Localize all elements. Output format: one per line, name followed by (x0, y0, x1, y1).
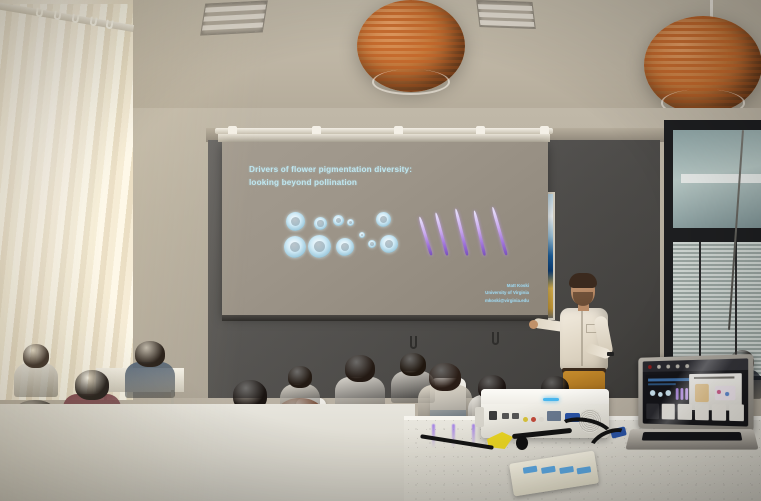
projected-slide: Drivers of flower pigmentation diversity… (222, 142, 548, 316)
laptop-screen[interactable] (643, 358, 748, 426)
presenter-left-hand (529, 320, 538, 329)
flower-image (284, 236, 306, 258)
slide-title-line-1: Drivers of flower pigmentation diversity… (249, 164, 489, 177)
flower-image (336, 238, 354, 256)
flower-image (333, 215, 344, 226)
daylight-glow (0, 0, 133, 400)
spectral-curve (491, 207, 508, 256)
screen-bottom-bar (222, 315, 548, 321)
upper-window-pane (673, 130, 761, 228)
flower-image (376, 212, 391, 227)
credit-email: mkoski@virginia.edu (485, 297, 529, 304)
spectral-curve (434, 212, 448, 255)
pendant-lamp (640, 0, 761, 112)
front-desk-left (0, 404, 415, 501)
wall-hook-icon (492, 332, 499, 345)
audience-head (429, 363, 461, 391)
credit-name: Matt Koski (485, 282, 529, 289)
audience-torso (14, 363, 58, 397)
cable-grommet (516, 436, 528, 450)
window-wall (0, 0, 133, 400)
audience-head (75, 370, 109, 400)
projector-lens (475, 407, 484, 427)
wristwatch-icon (607, 352, 614, 356)
laptop-lid (638, 354, 753, 432)
wall-hook-icon (410, 336, 417, 349)
slide-title-line-2: looking beyond pollination (249, 177, 489, 190)
laptop-keyboard[interactable] (642, 432, 743, 440)
ceiling-light-fixture (200, 0, 268, 35)
slide-credit: Matt Koski University of Virginia mkoski… (485, 282, 529, 304)
audience-member (23, 344, 49, 402)
screen-housing (218, 134, 550, 142)
audience-torso (125, 362, 175, 398)
flower-image (380, 235, 398, 253)
audience-head (288, 366, 312, 388)
ceiling-light-fixture (476, 0, 536, 29)
projector-status-led (543, 398, 559, 401)
classroom-scene: Drivers of flower pigmentation diversity… (0, 0, 761, 501)
laptop-keyboard-base[interactable] (625, 429, 758, 450)
flower-image (347, 219, 354, 226)
spectral-curve (418, 216, 433, 255)
flower-image (314, 217, 327, 230)
laptop[interactable] (628, 356, 756, 452)
audience-member (135, 341, 165, 403)
audience-head (135, 341, 165, 367)
projection-screen[interactable]: Drivers of flower pigmentation diversity… (222, 142, 548, 316)
slide-title: Drivers of flower pigmentation diversity… (249, 164, 489, 189)
flower-image (308, 235, 331, 258)
slide-figure-flowers (284, 210, 400, 262)
spectral-curve (454, 208, 469, 255)
audience-head (23, 344, 49, 368)
laptop-slide-thumbnails[interactable] (646, 404, 744, 422)
laptop-toolbar[interactable] (643, 358, 748, 372)
pendant-lamp (352, 0, 470, 100)
audience-head (345, 355, 375, 382)
slide-figure-curves (422, 206, 518, 264)
flower-image (359, 232, 365, 238)
audience-head (400, 353, 426, 376)
flower-image (368, 240, 376, 248)
credit-affiliation: University of Virginia (485, 289, 529, 296)
flower-image (286, 212, 305, 231)
spectral-curve (473, 210, 486, 255)
glass-partition (664, 120, 761, 380)
